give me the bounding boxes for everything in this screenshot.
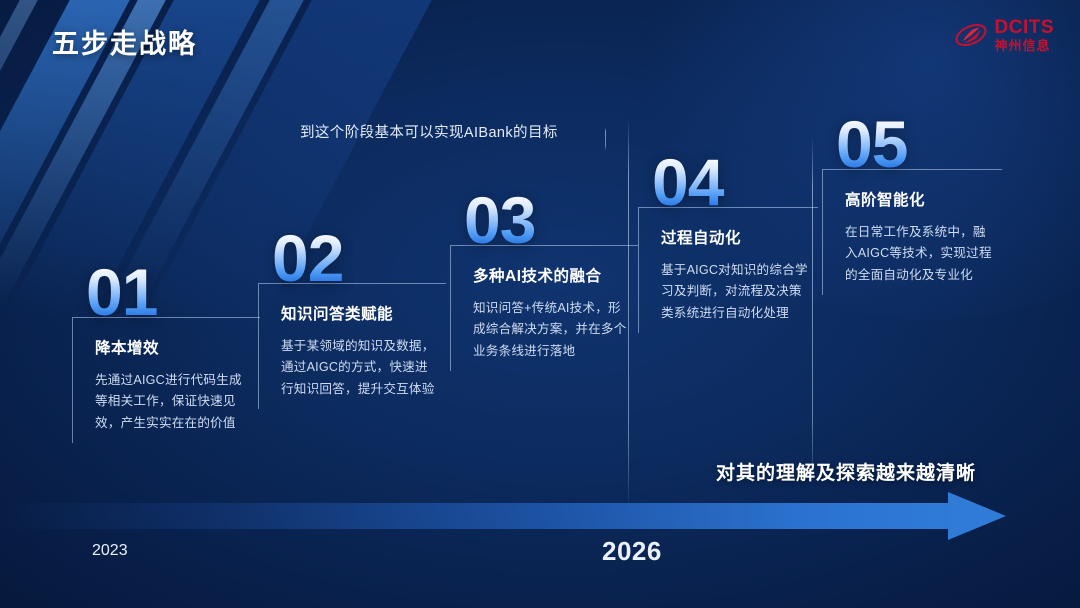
brand-logo: DCITS 神州信息 — [954, 18, 1055, 52]
step-02[interactable]: 02 知识问答类赋能 基于某领域的知识及数据，通过AIGC的方式，快速进行知识回… — [258, 228, 446, 409]
timeline-year-end: 2026 — [602, 536, 662, 567]
step-01[interactable]: 01 降本增效 先通过AIGC进行代码生成等相关工作，保证快速见效，产生实实在在… — [72, 262, 260, 443]
timeline-year-start: 2023 — [92, 542, 128, 560]
step-heading: 降本增效 — [95, 336, 250, 358]
step-card: 多种AI技术的融合 知识问答+传统AI技术，形成综合解决方案，并在多个业务条线进… — [450, 245, 638, 371]
step-number: 02 — [272, 228, 446, 289]
step-number: 04 — [652, 152, 818, 213]
step-05[interactable]: 05 高阶智能化 在日常工作及系统中，融入AIGC等技术，实现过程的全面自动化及… — [822, 114, 1002, 295]
timeline-caption: 对其的理解及探索越来越清晰 — [716, 458, 976, 485]
step-heading: 高阶智能化 — [845, 188, 992, 210]
slide-root: 五步走战略 DCITS 神州信息 到这个阶段基本可以实现AIBank的目标 01… — [0, 0, 1080, 608]
step-card: 降本增效 先通过AIGC进行代码生成等相关工作，保证快速见效，产生实实在在的价值 — [72, 317, 260, 443]
step-description: 知识问答+传统AI技术，形成综合解决方案，并在多个业务条线进行落地 — [473, 298, 628, 363]
step-number: 03 — [464, 190, 638, 251]
logo-text-block: DCITS 神州信息 — [995, 18, 1055, 52]
logo-en-text: DCITS — [995, 18, 1055, 37]
divider-line-3 — [605, 128, 606, 150]
step-description: 先通过AIGC进行代码生成等相关工作，保证快速见效，产生实实在在的价值 — [95, 370, 250, 435]
step-heading: 知识问答类赋能 — [281, 302, 436, 324]
step-description: 基于某领域的知识及数据，通过AIGC的方式，快速进行知识回答，提升交互体验 — [281, 336, 436, 401]
step-number: 05 — [836, 114, 1002, 175]
stage-annotation: 到这个阶段基本可以实现AIBank的目标 — [300, 121, 558, 142]
step-heading: 多种AI技术的融合 — [473, 264, 628, 286]
step-04[interactable]: 04 过程自动化 基于AIGC对知识的综合学习及判断，对流程及决策类系统进行自动… — [638, 152, 818, 333]
step-03[interactable]: 03 多种AI技术的融合 知识问答+传统AI技术，形成综合解决方案，并在多个业务… — [450, 190, 638, 371]
step-description: 在日常工作及系统中，融入AIGC等技术，实现过程的全面自动化及专业化 — [845, 222, 992, 287]
step-card: 高阶智能化 在日常工作及系统中，融入AIGC等技术，实现过程的全面自动化及专业化 — [822, 169, 1002, 295]
timeline-arrow — [0, 497, 1010, 537]
page-title: 五步走战略 — [52, 22, 197, 61]
step-heading: 过程自动化 — [661, 226, 808, 248]
step-description: 基于AIGC对知识的综合学习及判断，对流程及决策类系统进行自动化处理 — [661, 260, 808, 325]
right-arrow-icon — [948, 492, 1006, 540]
arrow-bar — [0, 503, 955, 529]
step-card: 过程自动化 基于AIGC对知识的综合学习及判断，对流程及决策类系统进行自动化处理 — [638, 207, 818, 333]
step-card: 知识问答类赋能 基于某领域的知识及数据，通过AIGC的方式，快速进行知识回答，提… — [258, 283, 446, 409]
swoosh-icon — [954, 20, 988, 50]
step-number: 01 — [86, 262, 260, 323]
logo-cn-text: 神州信息 — [995, 39, 1055, 52]
